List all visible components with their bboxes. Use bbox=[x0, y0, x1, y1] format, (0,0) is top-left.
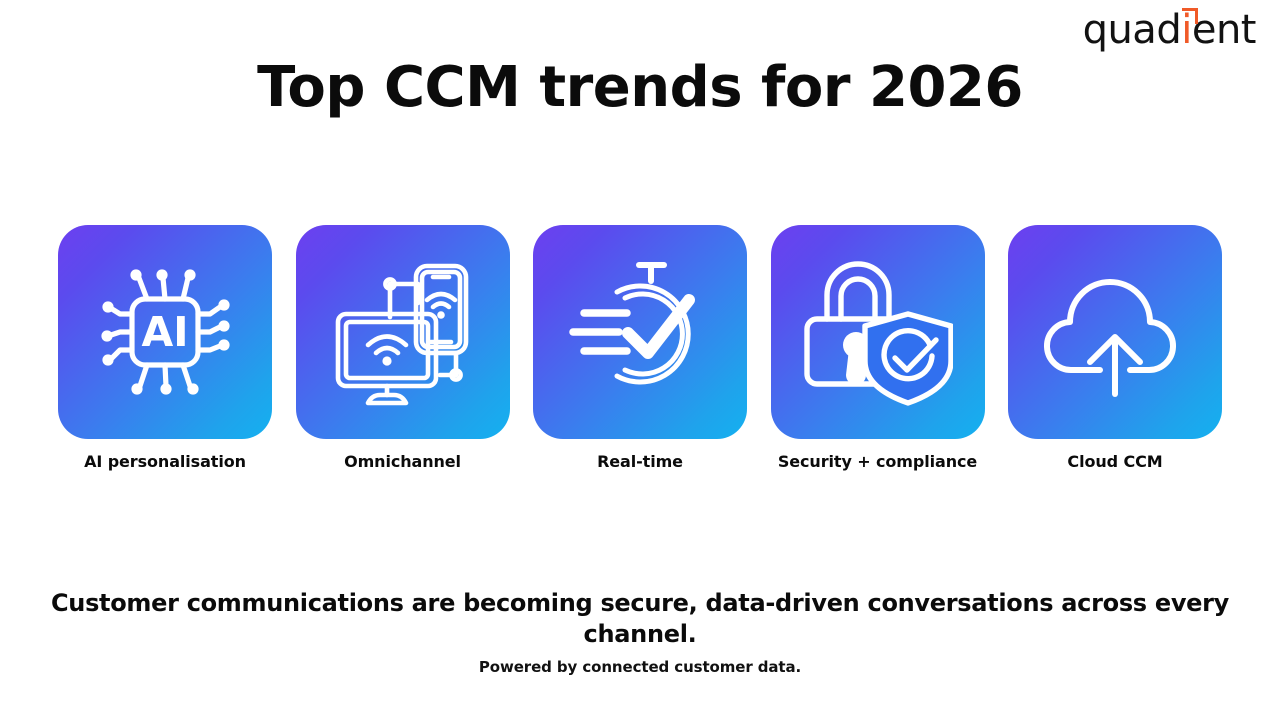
trend-tile-security-compliance[interactable] bbox=[771, 225, 985, 439]
footer-block: Customer communications are becoming sec… bbox=[0, 588, 1280, 676]
trend-tile-ai-personalisation[interactable]: AI bbox=[58, 225, 272, 439]
trend-tile-real-time[interactable] bbox=[533, 225, 747, 439]
slide-canvas: quadient Top CCM trends for 2026 bbox=[0, 0, 1280, 720]
quadient-logo: quadient bbox=[1083, 8, 1256, 52]
lock-shield-icon bbox=[803, 257, 953, 407]
brand-name-part1: quad bbox=[1083, 10, 1182, 50]
trend-tile-cloud-ccm[interactable] bbox=[1008, 225, 1222, 439]
page-title: Top CCM trends for 2026 bbox=[0, 56, 1280, 120]
trend-item-real-time[interactable]: Real-time bbox=[533, 225, 747, 471]
devices-wifi-icon bbox=[328, 257, 478, 407]
stopwatch-check-icon bbox=[565, 257, 715, 407]
brand-flag-icon bbox=[1182, 8, 1198, 24]
cloud-upload-icon bbox=[1040, 257, 1190, 407]
trend-label-real-time: Real-time bbox=[597, 452, 683, 471]
trend-item-ai-personalisation[interactable]: AI AI personalisation bbox=[58, 225, 272, 471]
trend-label-omnichannel: Omnichannel bbox=[344, 452, 461, 471]
brand-name-part2: ent bbox=[1192, 10, 1256, 50]
footer-headline: Customer communications are becoming sec… bbox=[0, 588, 1280, 650]
trend-item-security-compliance[interactable]: Security + compliance bbox=[771, 225, 985, 471]
brand-name-i-letter: i bbox=[1181, 10, 1192, 50]
trend-tile-omnichannel[interactable] bbox=[296, 225, 510, 439]
trend-label-cloud-ccm: Cloud CCM bbox=[1067, 452, 1162, 471]
brand-wordmark: quadient bbox=[1083, 10, 1256, 50]
trends-tile-row: AI AI personalisation bbox=[58, 225, 1222, 471]
trend-label-security-compliance: Security + compliance bbox=[778, 452, 977, 471]
trend-item-omnichannel[interactable]: Omnichannel bbox=[296, 225, 510, 471]
ai-chip-icon: AI bbox=[90, 257, 240, 407]
ai-chip-label: AI bbox=[142, 308, 189, 356]
trend-item-cloud-ccm[interactable]: Cloud CCM bbox=[1008, 225, 1222, 471]
trend-label-ai-personalisation: AI personalisation bbox=[84, 452, 246, 471]
footer-subline: Powered by connected customer data. bbox=[0, 658, 1280, 676]
